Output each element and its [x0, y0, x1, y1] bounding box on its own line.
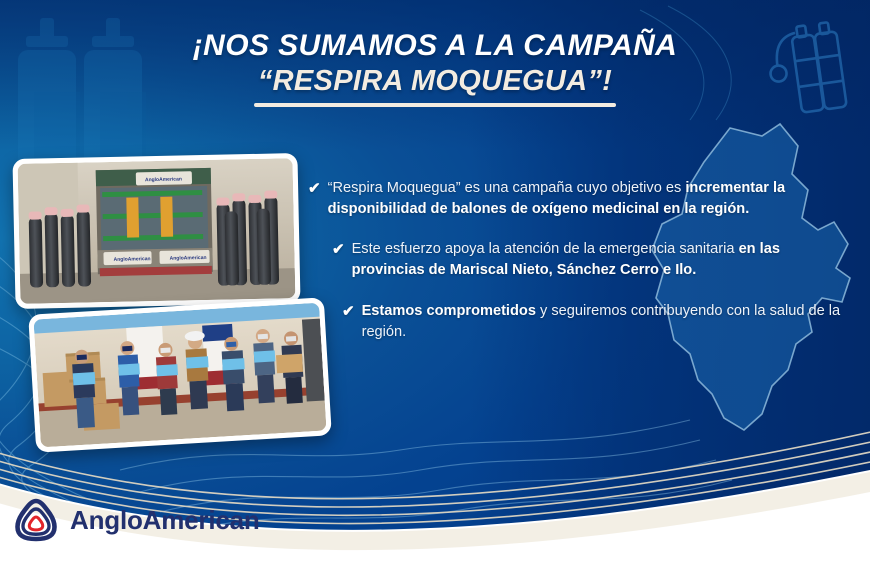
poster-title: ¡NOS SUMAMOS A LA CAMPAÑA “RESPIRA MOQUE… [0, 30, 870, 107]
poster-canvas: ¡NOS SUMAMOS A LA CAMPAÑA “RESPIRA MOQUE… [0, 0, 870, 570]
svg-text:AngloAmerican: AngloAmerican [114, 256, 151, 263]
bottom-curved-band [0, 410, 870, 570]
anglo-american-triangle-logo-icon [10, 494, 62, 546]
svg-text:AngloAmerican: AngloAmerican [170, 255, 207, 262]
title-line-2: “RESPIRA MOQUEGUA”! [254, 66, 616, 98]
check-icon: ✔ [308, 178, 321, 199]
bullet-item-2: ✔ Este esfuerzo apoya la atención de la … [332, 239, 856, 280]
bullet-1-part-regular: “Respira Moquegua” es una campaña cuyo o… [328, 180, 686, 196]
title-line-1: ¡NOS SUMAMOS A LA CAMPAÑA [0, 30, 870, 62]
bullet-text-2: Este esfuerzo apoya la atención de la em… [352, 239, 856, 280]
bullet-3-part-bold: Estamos comprometidos [362, 303, 536, 319]
anglo-american-wordmark: AngloAmerican [70, 505, 260, 536]
oxygen-cylinders-truck-photo: AngloAmerican AngloAmerican AngloAmerica… [12, 153, 300, 309]
anglo-american-logo: AngloAmerican [10, 494, 260, 546]
svg-text:AngloAmerican: AngloAmerican [145, 176, 182, 183]
bullet-2-part-regular: Este esfuerzo apoya la atención de la em… [352, 241, 739, 257]
check-icon: ✔ [332, 239, 345, 260]
bullet-list: ✔ “Respira Moquegua” es una campaña cuyo… [308, 178, 856, 362]
bullet-item-1: ✔ “Respira Moquegua” es una campaña cuyo… [308, 178, 856, 219]
title-line-2-wrap: “RESPIRA MOQUEGUA”! [254, 66, 616, 107]
bullet-text-3: Estamos comprometidos y seguiremos contr… [362, 301, 854, 342]
bullet-text-1: “Respira Moquegua” es una campaña cuyo o… [328, 178, 856, 219]
check-icon: ✔ [342, 301, 355, 322]
bullet-item-3: ✔ Estamos comprometidos y seguiremos con… [342, 301, 854, 342]
title-underline [254, 103, 616, 107]
photo-image: AngloAmerican AngloAmerican AngloAmerica… [18, 158, 296, 304]
